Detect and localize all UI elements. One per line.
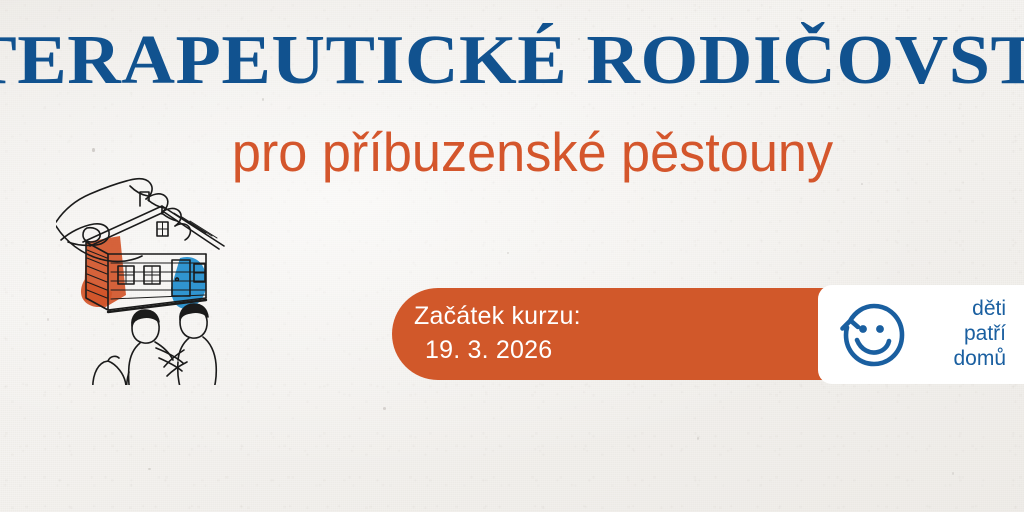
paper-speck — [383, 407, 386, 410]
logo-line-3: domů — [914, 347, 1006, 372]
page-subtitle: pro příbuzenské pěstouny — [231, 124, 832, 182]
paper-speck — [952, 472, 954, 475]
logo-line-2: patří — [914, 322, 1006, 347]
organization-logo: děti patří domů — [818, 285, 1024, 384]
paper-speck — [861, 183, 863, 185]
logo-line-1: děti — [914, 297, 1006, 322]
course-start-date: 19. 3. 2026 — [414, 334, 581, 368]
smiley-face-logo-icon — [828, 296, 906, 374]
paper-speck — [507, 252, 509, 254]
headline-container: TERAPEUTICKÉ RODIČOVSTVÍ — [0, 26, 1024, 96]
paper-speck — [697, 437, 699, 440]
paper-speck — [148, 468, 151, 470]
page-title: TERAPEUTICKÉ RODIČOVSTVÍ — [0, 26, 1024, 96]
course-start-text-block: Začátek kurzu: 19. 3. 2026 — [414, 300, 581, 368]
hand-holding-house-over-family-illustration — [56, 150, 266, 385]
organization-logo-wordmark: děti patří domů — [914, 297, 1006, 371]
course-start-label: Začátek kurzu: — [414, 300, 581, 334]
poster-canvas: TERAPEUTICKÉ RODIČOVSTVÍ pro příbuzenské… — [0, 0, 1024, 512]
paper-speck — [47, 318, 49, 321]
